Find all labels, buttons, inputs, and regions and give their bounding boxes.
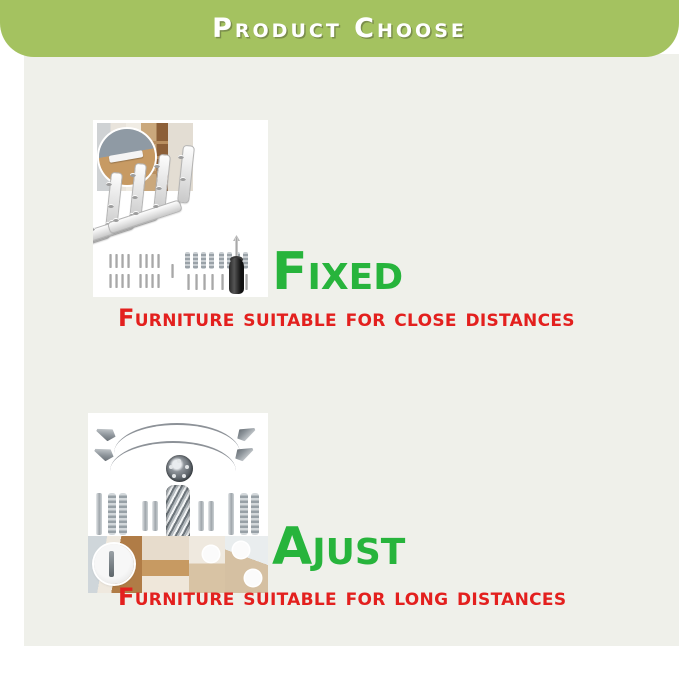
disc-hole [177, 459, 181, 463]
lag-screw [208, 501, 214, 531]
bracket-hole [108, 204, 114, 208]
screw [157, 254, 160, 268]
screw [109, 254, 112, 268]
wall-plug [240, 493, 248, 535]
lag-screw [198, 501, 204, 531]
bracket-hole [156, 186, 162, 190]
bracket-hole [113, 218, 119, 222]
magnifier-circle-icon [94, 544, 134, 584]
bracket-hole [154, 164, 160, 168]
wall-plug [119, 493, 127, 535]
bracket-hole [178, 155, 184, 159]
highlight-dot [233, 542, 249, 558]
lag-screw [228, 493, 234, 535]
corner-brace-bracket-kit-photo [93, 120, 268, 297]
product-block-fixed [93, 120, 268, 297]
screw [187, 274, 190, 290]
header-banner: Product Choose [0, 0, 679, 57]
screw [115, 254, 118, 268]
screw [139, 274, 142, 288]
cable-end-cap [94, 423, 118, 443]
screw [127, 254, 130, 268]
disc-hole [185, 465, 189, 469]
screw [139, 254, 142, 268]
highlight-dot [203, 546, 219, 562]
disc-hole [172, 474, 176, 478]
screw [157, 274, 160, 288]
cable-end-cap [234, 423, 258, 443]
bracket-hole [106, 182, 112, 186]
lag-screw [142, 501, 148, 531]
screw [211, 274, 214, 290]
screw [115, 274, 118, 288]
ratchet-disc [166, 455, 193, 482]
screwdriver-handle [229, 258, 244, 294]
screw [127, 274, 130, 288]
wall-anchor [219, 252, 224, 269]
screw [151, 274, 154, 288]
lag-screw [96, 493, 102, 535]
bracket-hole [180, 177, 186, 181]
screw [221, 274, 224, 290]
wall-anchor [193, 252, 198, 269]
screw [121, 254, 124, 268]
wall-plug [251, 493, 259, 535]
screw [121, 274, 124, 288]
product-caption-fixed: Furniture suitable for close distances [118, 306, 575, 330]
cable-end-cap [92, 443, 116, 463]
product-headline-fixed: Fixed [272, 246, 403, 298]
disc-hole [182, 474, 186, 478]
screw [171, 264, 174, 278]
product-caption-ajust: Furniture suitable for long distances [118, 585, 566, 609]
wall-anchor [185, 252, 190, 269]
bracket-hole [132, 195, 138, 199]
bracket-hole [153, 204, 159, 208]
product-choose-infographic: Product Choose [0, 0, 679, 679]
wall-anchor [201, 252, 206, 269]
bracket-hole [130, 173, 136, 177]
screw [245, 274, 248, 290]
screw [145, 274, 148, 288]
product-block-ajust [88, 413, 268, 593]
screw [151, 254, 154, 268]
lag-screw [152, 501, 158, 531]
product-headline-ajust: Ajust [272, 521, 405, 573]
wall-plug [108, 493, 116, 535]
screw [109, 274, 112, 288]
screw [195, 274, 198, 290]
bracket-hole [133, 211, 139, 215]
wall-anchor [209, 252, 214, 269]
anti-tip-steel-cable-kit-photo [88, 413, 268, 593]
screw [203, 274, 206, 290]
screw [145, 254, 148, 268]
page-title: Product Choose [212, 13, 467, 44]
screwdriver [228, 238, 245, 294]
disc-hole [169, 465, 173, 469]
